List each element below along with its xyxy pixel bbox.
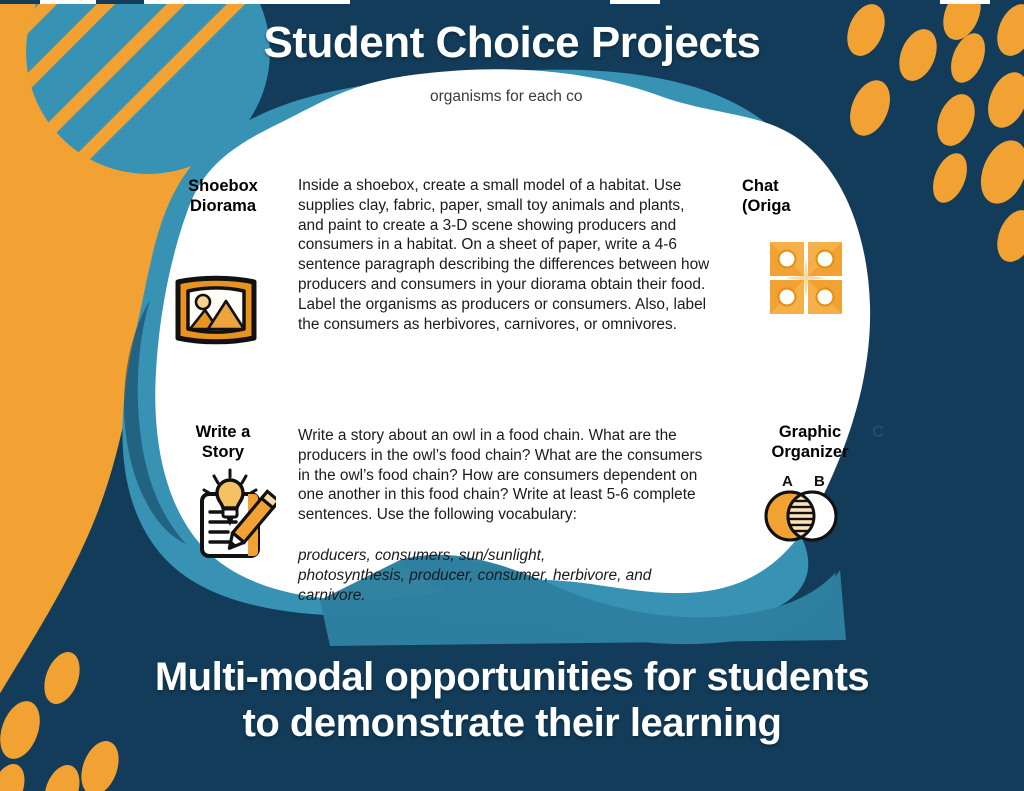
slide-canvas: organisms for each co Shoebox Diorama In… [0, 0, 1024, 791]
row-label-shoebox-diorama: Shoebox Diorama [168, 176, 278, 216]
top-edge-sliver [0, 0, 1024, 4]
origami-chatterbox-icon [764, 236, 848, 320]
row-label-chatterbox: Chat (Origa [742, 176, 862, 216]
caption-line-2: to demonstrate their learning [60, 701, 964, 747]
row-body-shoebox-diorama: Inside a shoebox, create a small model o… [298, 176, 710, 334]
row-label-write-a-story: Write a Story [168, 422, 278, 462]
row-body-vocabulary-line-1: producers, consumers, sun/sunlight, [298, 546, 718, 566]
venn-label-b: B [814, 473, 825, 490]
venn-diagram-icon: A B [756, 468, 864, 548]
clipped-top-line: organisms for each co [430, 88, 583, 106]
row-body-vocabulary-line-2: photosynthesis, producer, consumer, herb… [298, 566, 718, 586]
slide-caption: Multi-modal opportunities for students t… [60, 655, 964, 746]
clipped-top-line-ghost [470, 72, 474, 88]
notepad-lightbulb-pencil-icon [192, 468, 276, 560]
caption-line-1: Multi-modal opportunities for students [60, 655, 964, 701]
row-label-clipped-letter: C [872, 422, 884, 442]
row-body-vocabulary-line-3: carnivore. [298, 586, 718, 606]
picture-frame-icon [174, 274, 258, 346]
row-label-graphic-organizer: Graphic Organizer [748, 422, 872, 462]
page-title: Student Choice Projects [0, 18, 1024, 68]
row-body-write-a-story: Write a story about an owl in a food cha… [298, 426, 710, 525]
venn-label-a: A [782, 473, 793, 490]
